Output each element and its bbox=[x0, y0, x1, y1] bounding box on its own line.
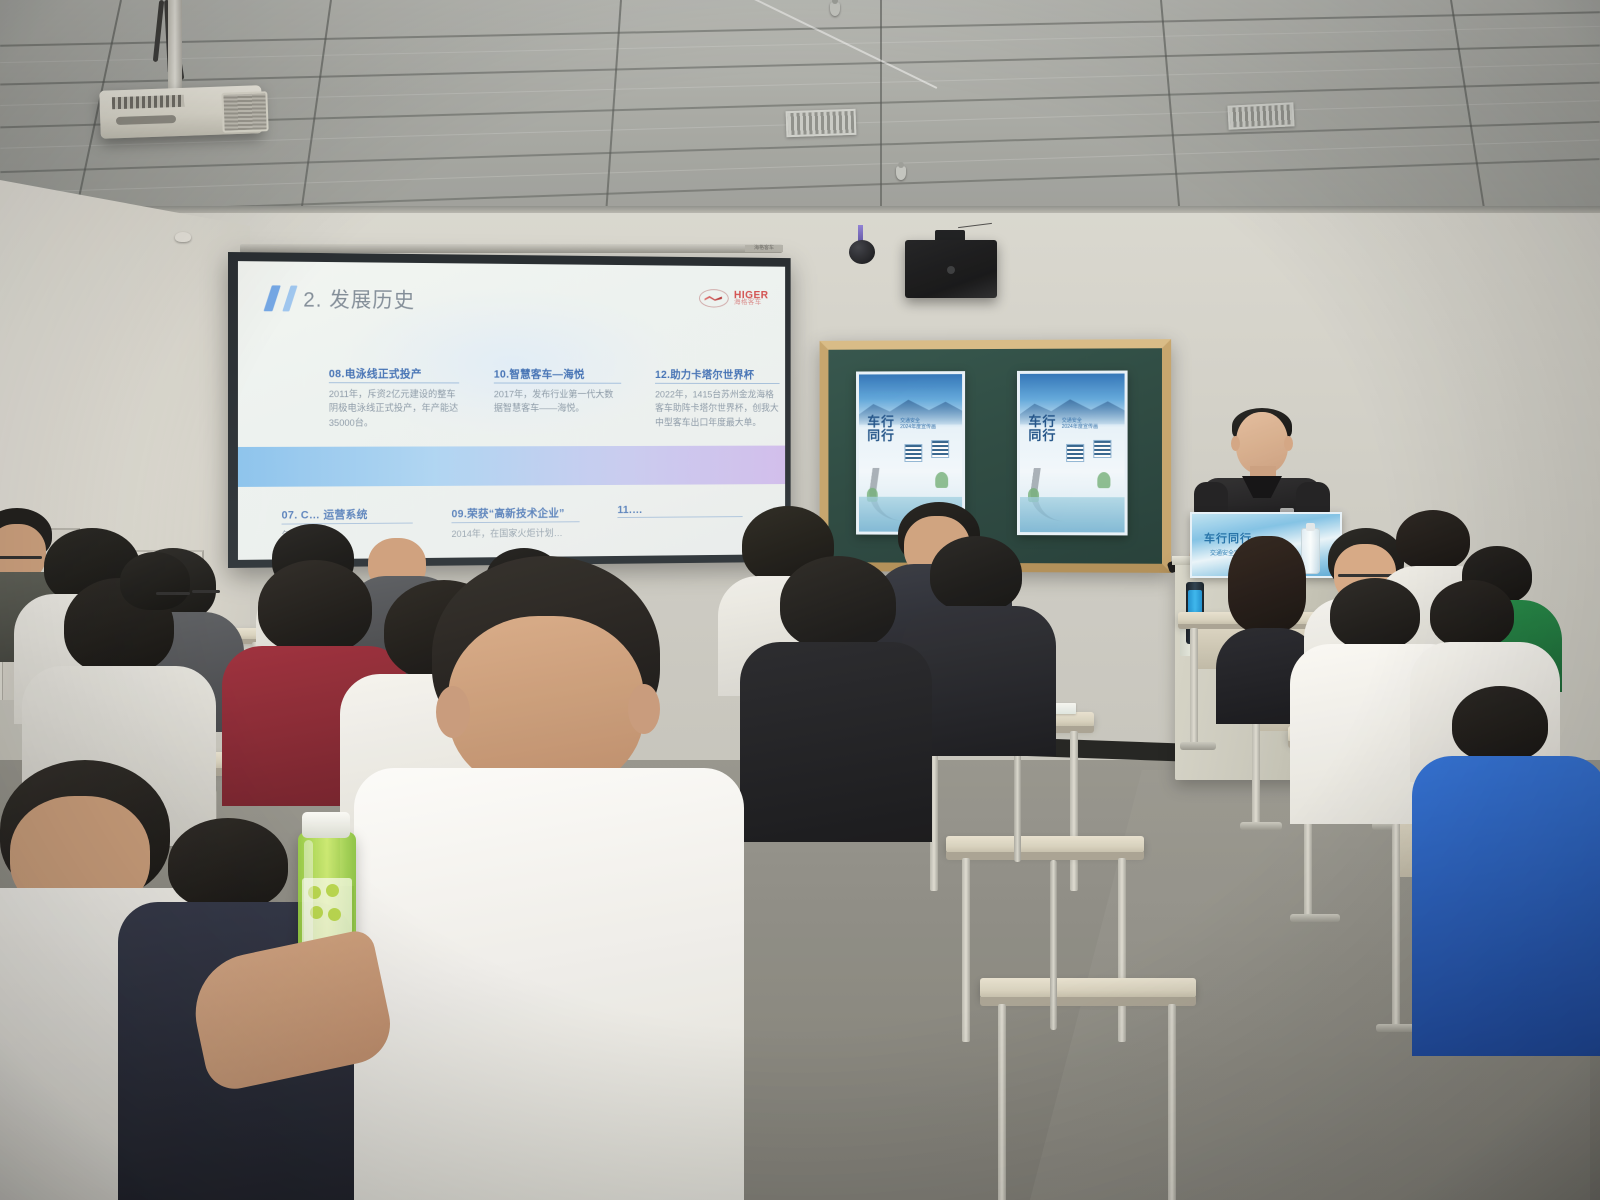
wall-speaker bbox=[905, 240, 997, 298]
timeline-card: 09.荣获“高新技术企业” 2014年，在国家火炬计划… bbox=[451, 505, 579, 543]
poster-title: 车行同行 bbox=[867, 415, 895, 442]
poster-subtitle: 交通安全2024年度宣传画 bbox=[1062, 418, 1120, 431]
timeline-card: 10.智慧客车—海悦 2017年，发布行业第一代大数据智慧客车——海悦。 bbox=[494, 366, 621, 417]
projector-vent bbox=[112, 95, 184, 110]
poster-tree-icon bbox=[935, 472, 948, 488]
poster-qr-icon bbox=[1093, 440, 1111, 458]
slide-title: 2. 发展历史 bbox=[303, 284, 415, 315]
poster-qr-icon bbox=[931, 440, 949, 458]
dome-camera-icon bbox=[175, 232, 191, 242]
higer-swoosh-icon bbox=[699, 289, 729, 308]
poster-subtitle: 交通安全2024年度宣传画 bbox=[900, 418, 957, 431]
slide-title-row: 2. 发展历史 bbox=[268, 283, 415, 314]
title-slash-icon bbox=[282, 286, 297, 312]
timeline-card: 11.… bbox=[617, 504, 742, 523]
timeline-card-body: 2022年，1415台苏州金龙海格客车助阵卡塔尔世界杯，创我大中型客车出口年度最… bbox=[655, 389, 780, 430]
bottle-cap bbox=[302, 812, 350, 838]
timeline-card-body: 2011年，斥资2亿元建设的整车阴极电泳线正式投产，年产能达35000台。 bbox=[329, 388, 459, 430]
timeline-card-body: 2017年，发布行业第一代大数据智慧客车——海悦。 bbox=[494, 388, 621, 416]
chair-frame bbox=[1050, 860, 1057, 1030]
presenter-ear bbox=[1284, 436, 1293, 451]
timeline-card-heading: 12.助力卡塔尔世界杯 bbox=[655, 366, 780, 384]
brand-sub: 海格客车 bbox=[734, 300, 769, 307]
classroom-photo-scene: 海格客车 2. 发展历史 HIGER 海格客车 bbox=[0, 0, 1600, 1200]
sprinkler-head bbox=[830, 2, 840, 16]
projected-slide: 2. 发展历史 HIGER 海格客车 08.电泳线正式投产 2011年，斥资2亿… bbox=[238, 261, 785, 560]
safety-poster: 车行同行 交通安全2024年度宣传画 bbox=[1017, 371, 1128, 536]
timeline-card: 12.助力卡塔尔世界杯 2022年，1415台苏州金龙海格客车助阵卡塔尔世界杯，… bbox=[655, 366, 780, 430]
projection-screen: 2. 发展历史 HIGER 海格客车 08.电泳线正式投产 2011年，斥资2亿… bbox=[228, 252, 791, 568]
poster-tree-icon bbox=[1097, 472, 1110, 488]
blackboard: 车行同行 交通安全2024年度宣传画 车行同行 交通安全2024年度宣传画 bbox=[820, 339, 1172, 573]
higer-logo: HIGER 海格客车 bbox=[699, 289, 769, 308]
timeline-card-body bbox=[617, 522, 742, 523]
poster-title: 车行同行 bbox=[1028, 415, 1056, 442]
timeline-card-heading: 09.荣获“高新技术企业” bbox=[451, 505, 579, 524]
ceiling-wall-junction bbox=[0, 206, 1600, 213]
air-vent bbox=[786, 109, 857, 137]
air-vent bbox=[1227, 102, 1294, 129]
poster-qr-icon bbox=[904, 444, 922, 462]
screen-tag: 海格客车 bbox=[745, 245, 783, 252]
presenter-ear bbox=[1231, 436, 1240, 451]
presenter-head bbox=[1236, 412, 1288, 474]
projector-lens bbox=[221, 91, 268, 133]
timeline-card-heading: 10.智慧客车—海悦 bbox=[494, 366, 621, 384]
sprinkler-head bbox=[896, 166, 906, 180]
timeline-band bbox=[238, 446, 785, 487]
projector-mount-pole bbox=[168, 0, 182, 98]
timeline-card-body: 2014年，在国家火炬计划… bbox=[451, 527, 579, 542]
timeline-card-heading: 11.… bbox=[617, 504, 742, 518]
screen-roller-bar bbox=[240, 244, 782, 253]
poster-water-graphic bbox=[1020, 497, 1125, 532]
timeline-card-heading: 08.电泳线正式投产 bbox=[329, 365, 459, 383]
timeline-card: 08.电泳线正式投产 2011年，斥资2亿元建设的整车阴极电泳线正式投产，年产能… bbox=[329, 365, 459, 430]
poster-qr-icon bbox=[1066, 443, 1084, 461]
dome-sensor-icon bbox=[849, 240, 875, 264]
title-slash-icon bbox=[264, 285, 281, 311]
